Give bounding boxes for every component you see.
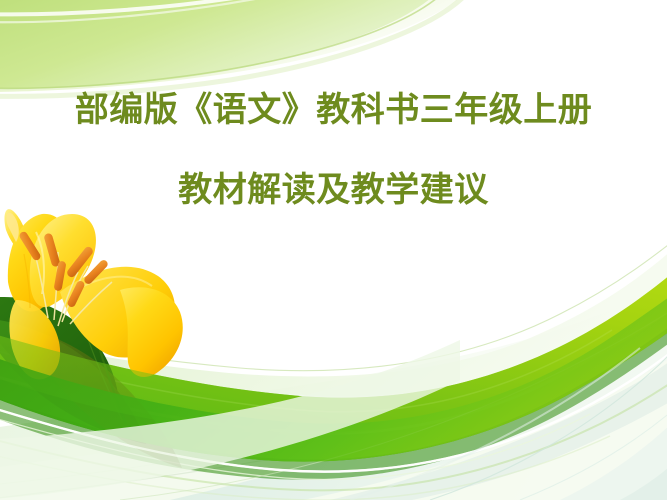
presentation-slide: 部编版《语文》教科书三年级上册 教材解读及教学建议	[0, 0, 667, 500]
slide-background-artwork	[0, 0, 667, 500]
